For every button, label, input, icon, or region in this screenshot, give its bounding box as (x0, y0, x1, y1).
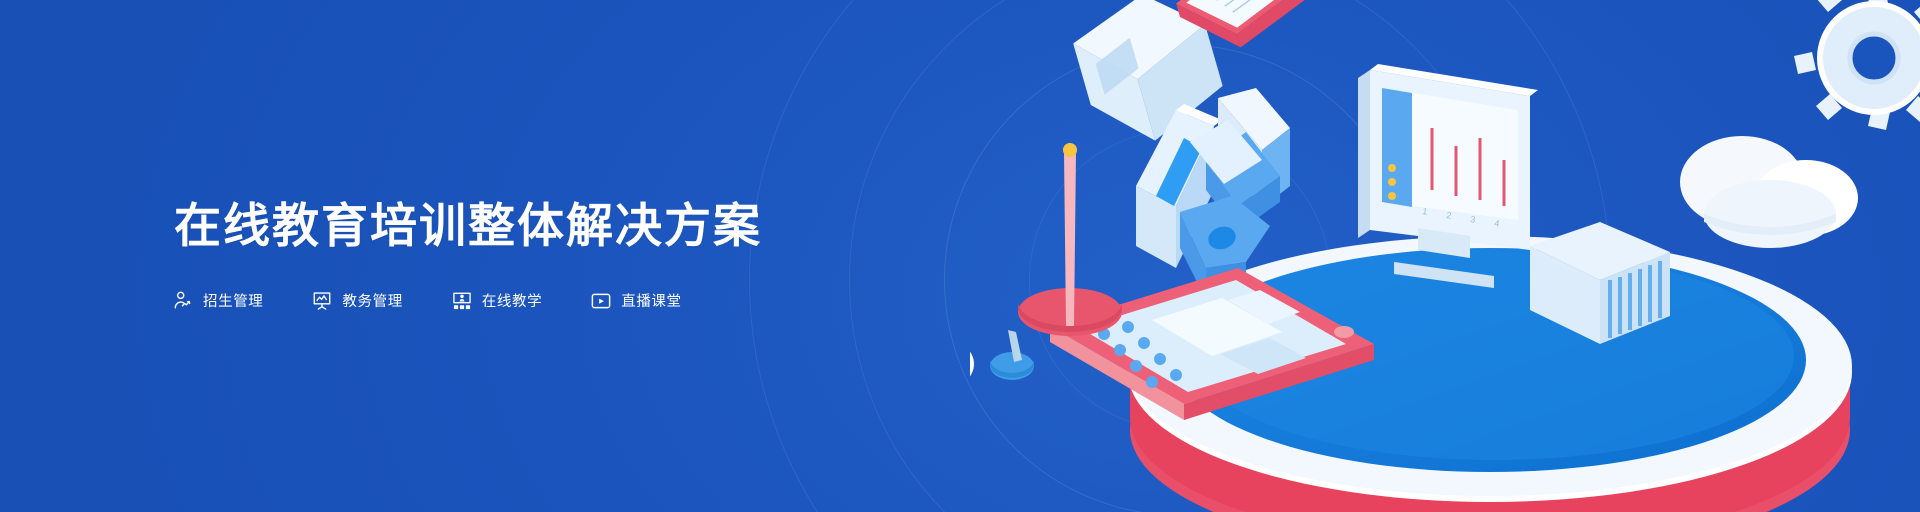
feature-list: 招生管理 教务管理 (172, 290, 762, 312)
banner-content: 在线教育培训整体解决方案 招生管理 (172, 0, 762, 512)
feature-item-online-teaching[interactable]: 在线教学 (451, 290, 542, 312)
feature-item-live-classroom[interactable]: 直播课堂 (590, 290, 681, 312)
enrollment-user-chart-icon (172, 290, 194, 312)
decorative-rings (730, 0, 1630, 512)
ring-inner (1029, 129, 1331, 431)
feature-label: 在线教学 (482, 290, 542, 311)
feature-label: 直播课堂 (621, 290, 681, 311)
hero-banner: 1 2 3 4 (0, 0, 1920, 512)
classroom-teaching-icon (451, 290, 473, 312)
video-play-icon (590, 290, 612, 312)
feature-label: 教务管理 (342, 290, 402, 311)
feature-label: 招生管理 (203, 290, 263, 311)
easel-chart-icon (311, 290, 333, 312)
feature-item-academic-affairs[interactable]: 教务管理 (311, 290, 402, 312)
feature-item-enrollment[interactable]: 招生管理 (172, 290, 263, 312)
page-title: 在线教育培训整体解决方案 (174, 200, 762, 252)
